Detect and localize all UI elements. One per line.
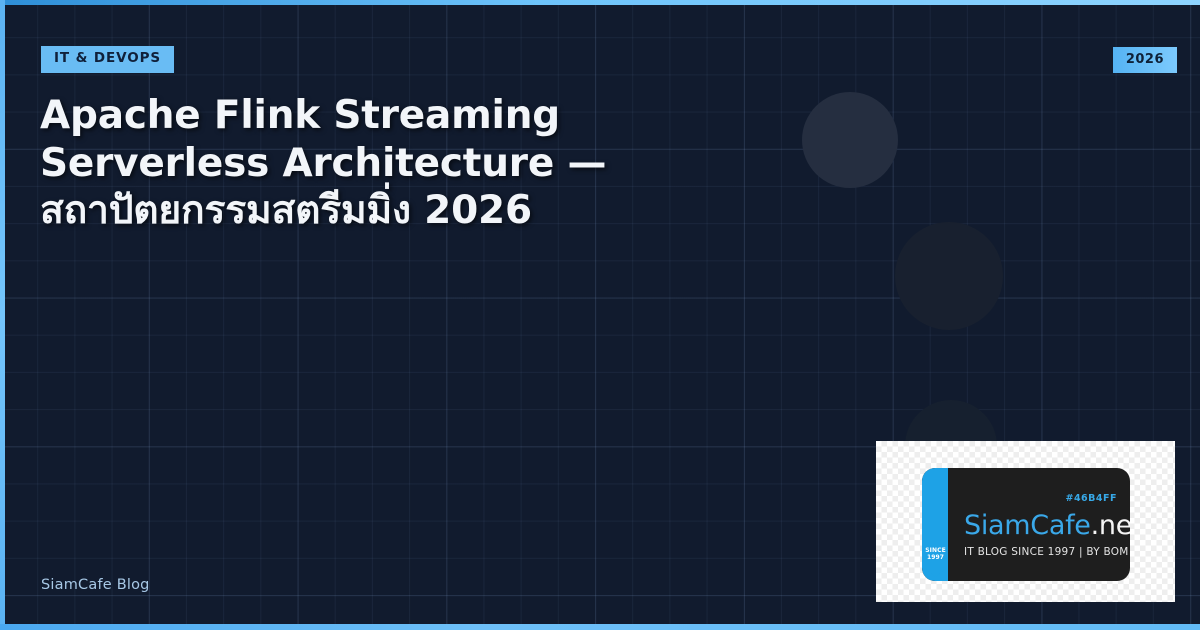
decorative-circle-2 xyxy=(895,222,1003,330)
wordmark-suffix: .net xyxy=(1091,510,1130,541)
shield-year-label: 1997 xyxy=(927,554,944,561)
logo-card: SINCE 1997 #46B4FF SiamCafe.net IT BLOG … xyxy=(876,441,1175,602)
page-title: Apache Flink Streaming Serverless Archit… xyxy=(40,92,730,235)
brand-hex-code: #46B4FF xyxy=(1065,493,1117,504)
category-badge[interactable]: IT & DEVOPS xyxy=(41,46,174,73)
accent-bar-left xyxy=(0,0,5,630)
accent-bar-bottom xyxy=(0,624,1200,630)
footer-brand-label: SiamCafe Blog xyxy=(41,577,150,593)
logo-badge: SINCE 1997 #46B4FF SiamCafe.net IT BLOG … xyxy=(922,468,1130,581)
logo-wordmark: SiamCafe.net xyxy=(964,512,1130,539)
accent-bar-top xyxy=(0,0,1200,5)
logo-tagline: IT BLOG SINCE 1997 | BY BOM xyxy=(964,546,1129,558)
og-image-canvas: IT & DEVOPS 2026 Apache Flink Streaming … xyxy=(0,0,1200,630)
decorative-circle-1 xyxy=(802,92,898,188)
wordmark-primary: SiamCafe xyxy=(964,510,1091,541)
shield-since-label: SINCE xyxy=(925,547,946,554)
year-badge[interactable]: 2026 xyxy=(1113,47,1177,73)
